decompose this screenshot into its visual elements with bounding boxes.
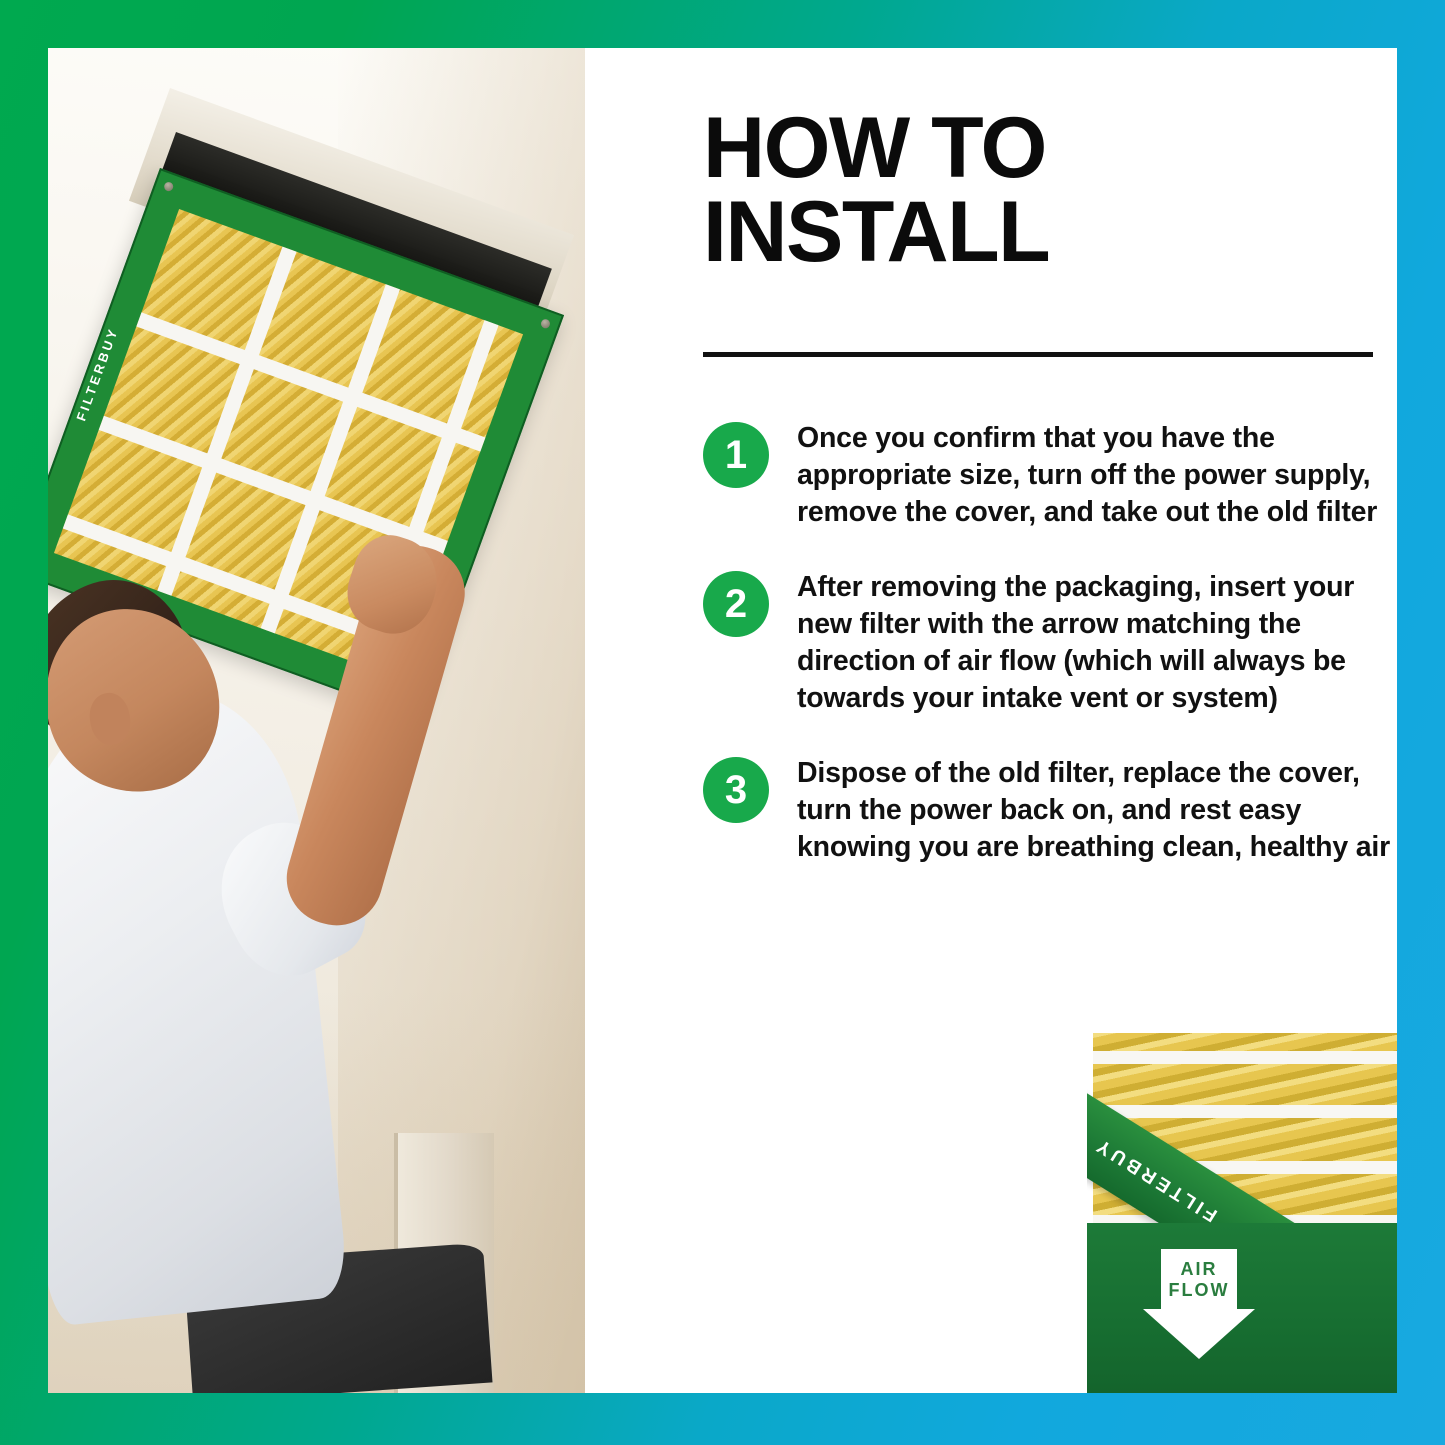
step-item-3: 3 Dispose of the old filter, replace the…	[703, 755, 1393, 866]
title-line-2: INSTALL	[703, 190, 1363, 274]
gradient-border-frame: FILTERBUY HOW TO INSTALL	[0, 0, 1445, 1445]
page-title: HOW TO INSTALL	[703, 106, 1363, 275]
instructions-panel: HOW TO INSTALL 1 Once you confirm that y…	[585, 48, 1397, 1393]
filter-screw-tr	[540, 318, 552, 330]
product-filter-top: FILTERBUY	[1087, 1033, 1397, 1253]
product-pleat-sep-2	[1093, 1105, 1397, 1118]
air-flow-label-line2: FLOW	[1143, 1280, 1255, 1301]
step-number-badge-3: 3	[703, 757, 769, 823]
step-text-3: Dispose of the old filter, replace the c…	[797, 755, 1393, 866]
steps-list: 1 Once you confirm that you have the app…	[703, 420, 1393, 904]
content-canvas: FILTERBUY HOW TO INSTALL	[48, 48, 1397, 1393]
air-flow-label-line1: AIR	[1143, 1259, 1255, 1280]
step-item-1: 1 Once you confirm that you have the app…	[703, 420, 1393, 531]
person-installing	[48, 533, 468, 1393]
product-pleat-sep-1	[1093, 1051, 1397, 1064]
title-divider	[703, 352, 1373, 357]
filter-screw-tl	[163, 181, 175, 193]
product-filter-photo: FILTERBUY AIR FLOW	[1087, 1033, 1397, 1393]
install-photo: FILTERBUY	[48, 48, 585, 1393]
title-line-1: HOW TO	[703, 106, 1363, 190]
air-flow-arrow-icon: AIR FLOW	[1143, 1249, 1255, 1359]
arrow-tip	[1143, 1309, 1255, 1359]
step-text-1: Once you confirm that you have the appro…	[797, 420, 1393, 531]
step-item-2: 2 After removing the packaging, insert y…	[703, 569, 1393, 717]
air-flow-label: AIR FLOW	[1143, 1259, 1255, 1301]
step-text-2: After removing the packaging, insert you…	[797, 569, 1393, 717]
product-frame-front: AIR FLOW	[1087, 1223, 1397, 1393]
step-number-badge-1: 1	[703, 422, 769, 488]
step-number-badge-2: 2	[703, 571, 769, 637]
